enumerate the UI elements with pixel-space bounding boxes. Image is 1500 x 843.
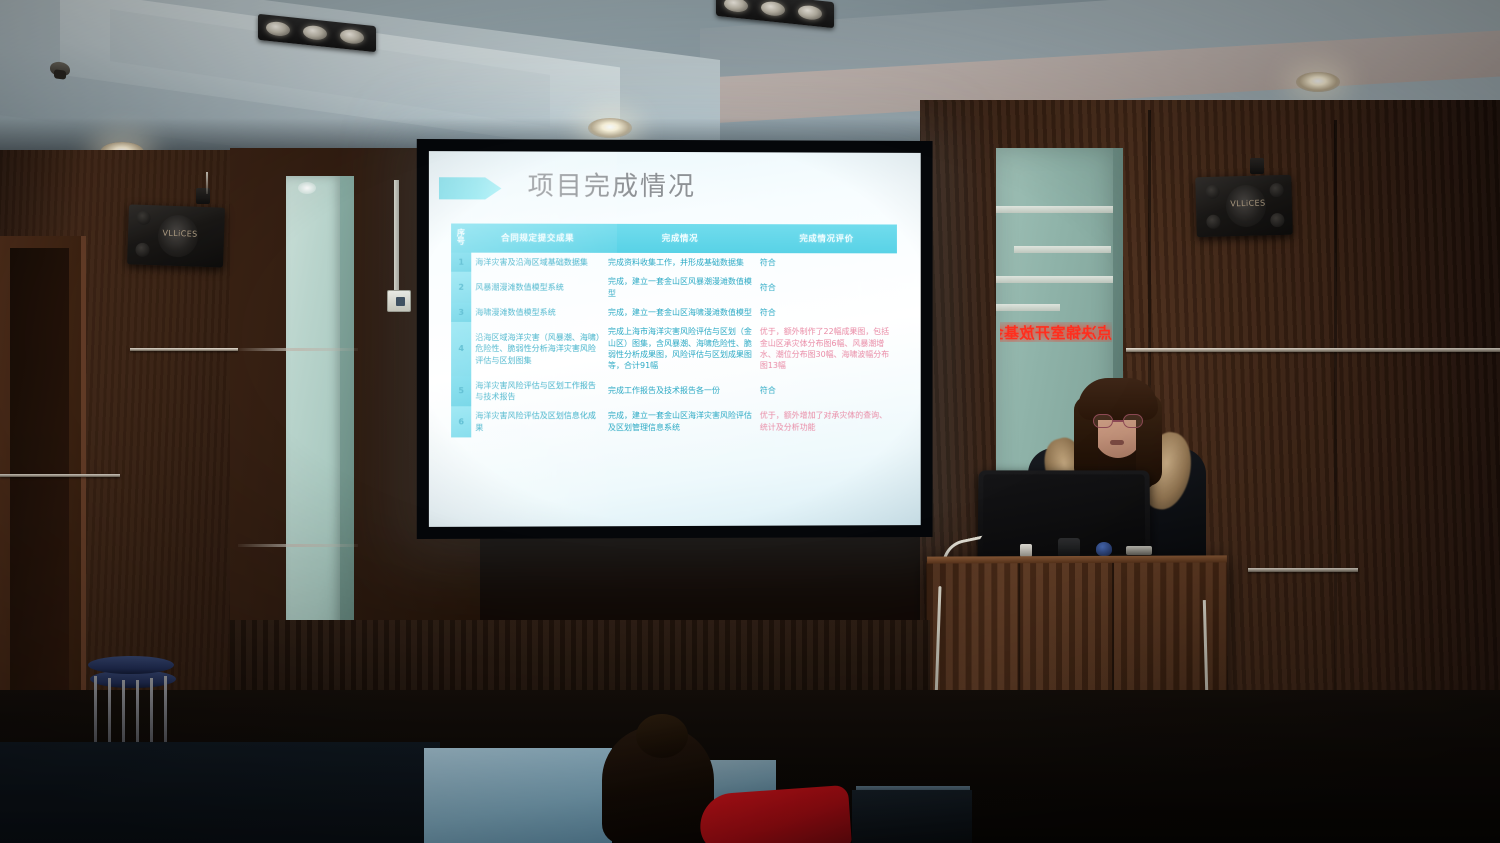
table-body: 1海洋灾害及沿海区域基础数据集完成资料收集工作，并形成基础数据集符合2风暴潮漫滩… (451, 252, 897, 437)
projection-screen-surface: 项目完成情况 序号 合同规定提交成果 完成情况 完成情况评价 1海洋灾害及沿海区… (429, 151, 921, 527)
projection-screen-frame: 项目完成情况 序号 合同规定提交成果 完成情况 完成情况评价 1海洋灾害及沿海区… (417, 139, 933, 539)
glasses-lens-right (1123, 414, 1143, 428)
speaker-tweeter (1269, 183, 1283, 197)
track-lamp (798, 4, 822, 21)
chrome-wall-trim (1248, 568, 1358, 572)
cell-row-number: 3 (451, 303, 471, 322)
column-header-status: 完成情况 (604, 224, 756, 253)
track-lamp (303, 25, 327, 42)
cell-deliverable: 海洋灾害及沿海区域基础数据集 (471, 252, 604, 272)
table-row: 2风暴潮漫滩数值模型系统完成，建立一套金山区风暴潮漫滩数值模型符合 (451, 272, 897, 303)
cell-deliverable: 海啸漫滩数值模型系统 (471, 303, 604, 322)
glasses-lens-left (1093, 414, 1113, 428)
cell-status: 完成，建立一套金山区海啸漫滩数值模型 (604, 303, 756, 322)
speaker-tweeter (135, 243, 149, 257)
glass-blind-stripe (996, 206, 1114, 213)
speaker-cable-left (206, 172, 208, 194)
stool-leg (164, 676, 167, 752)
glass-highlight (298, 182, 316, 194)
audience-member-hair-bun (636, 714, 688, 758)
slide-title: 项目完成情况 (528, 165, 696, 203)
mint-glass-column-left (286, 176, 342, 696)
cell-deliverable: 海洋灾害风险评估与区划工作报告与技术报告 (471, 376, 604, 407)
cell-evaluation: 符合 (756, 375, 897, 406)
cell-status: 完成资料收集工作，并形成基础数据集 (604, 253, 756, 273)
speaker-tweeter (1205, 185, 1219, 199)
table-row: 1海洋灾害及沿海区域基础数据集完成资料收集工作，并形成基础数据集符合 (451, 252, 897, 272)
ceiling-downlight (1296, 72, 1340, 92)
glass-blind-stripe (996, 276, 1114, 283)
cell-row-number: 1 (451, 252, 471, 271)
cell-status: 完成上海市海洋灾害风险评估与区划（金山区）图集，含风暴潮、海啸危险性、脆弱性分析… (604, 322, 756, 376)
cell-row-number: 2 (451, 272, 471, 303)
conference-room-photo: 点决锦室开放基金 VLLiCES VLLiCES 项目完成情况 (0, 0, 1500, 843)
cell-status: 完成，建立一套金山区海洋灾害风险评估及区划管理信息系统 (604, 406, 756, 437)
presentation-slide: 项目完成情况 序号 合同规定提交成果 完成情况 完成情况评价 1海洋灾害及沿海区… (429, 151, 921, 527)
cell-evaluation: 符合 (756, 272, 897, 303)
table-surface-left (424, 748, 612, 843)
cell-row-number: 4 (451, 322, 471, 376)
cell-deliverable: 沿海区域海洋灾害（风暴潮、海啸）危险性、脆弱性分析海洋灾害风险评估与区划图集 (471, 322, 604, 376)
glass-blind-stripe (996, 304, 1060, 311)
speaker-bracket-right (1250, 158, 1264, 174)
speaker-brand-label-right: VLLiCES (1226, 198, 1270, 208)
track-lamp (266, 21, 290, 38)
door-panel (10, 248, 69, 706)
door-frame (0, 236, 86, 706)
speaker-tweeter (1270, 213, 1284, 227)
speaker-tweeter (1206, 215, 1220, 229)
cell-status: 完成，建立一套金山区风暴潮漫滩数值模型 (604, 272, 756, 303)
cell-status: 完成工作报告及技术报告各一份 (604, 376, 756, 407)
speaker-tweeter (136, 211, 150, 225)
cell-row-number: 6 (451, 407, 471, 438)
column-header-no: 序号 (451, 223, 471, 252)
ceiling-downlight (588, 118, 632, 138)
desk-blue-object (1096, 542, 1112, 556)
table-header-row: 序号 合同规定提交成果 完成情况 完成情况评价 (451, 223, 897, 253)
table-row: 6海洋灾害风险评估及区划信息化成果完成，建立一套金山区海洋灾害风险评估及区划管理… (451, 406, 897, 437)
cell-evaluation: 优于，额外增加了对承灾体的查询、统计及分析功能 (756, 406, 897, 437)
cell-evaluation: 符合 (756, 253, 897, 273)
desk-remote[interactable] (1126, 546, 1152, 555)
chrome-wall-trim (0, 474, 120, 477)
table-row: 4沿海区域海洋灾害（风暴潮、海啸）危险性、脆弱性分析海洋灾害风险评估与区划图集完… (451, 322, 897, 376)
cell-evaluation: 优于，额外制作了22幅成果图，包括金山区承灾体分布图6幅、风暴潮增水、潮位分布图… (756, 322, 897, 375)
presenter-glasses (1093, 414, 1143, 428)
stool-leg (94, 676, 97, 752)
table-row: 3海啸漫滩数值模型系统完成，建立一套金山区海啸漫滩数值模型符合 (451, 303, 897, 323)
wall-panel-seam (1334, 120, 1337, 720)
foreground-table (0, 742, 440, 843)
table-row: 5海洋灾害风险评估与区划工作报告与技术报告完成工作报告及技术报告各一份符合 (451, 375, 897, 406)
track-lamp (340, 28, 364, 45)
led-banner-reflection: 点决锦室开放基金 (1000, 322, 1112, 342)
cell-deliverable: 海洋灾害风险评估及区划信息化成果 (471, 406, 604, 437)
column-header-deliverable: 合同规定提交成果 (471, 224, 604, 253)
chrome-wall-trim (1126, 348, 1500, 352)
presenter-mouth (1110, 440, 1124, 445)
wall-control-panel[interactable] (387, 290, 411, 312)
track-lamp (761, 1, 785, 18)
column-header-evaluation: 完成情况评价 (756, 224, 897, 253)
glass-blind-stripe (1014, 246, 1111, 253)
table-head: 序号 合同规定提交成果 完成情况 完成情况评价 (451, 223, 897, 253)
cell-deliverable: 风暴潮漫滩数值模型系统 (471, 272, 604, 303)
desk-cup (1020, 544, 1032, 557)
wall-speaker-right: VLLiCES (1195, 175, 1293, 237)
project-completion-table: 序号 合同规定提交成果 完成情况 完成情况评价 1海洋灾害及沿海区域基础数据集完… (451, 223, 897, 437)
wall-seam (238, 348, 358, 351)
wall-conduit (394, 180, 399, 292)
glasses-bridge (1113, 420, 1123, 422)
chevron-right-icon (439, 177, 501, 199)
track-lamp (724, 0, 748, 13)
speaker-brand-label-left: VLLiCES (158, 228, 202, 239)
wall-speaker-left: VLLiCES (127, 204, 225, 267)
slide-title-row: 项目完成情况 (455, 169, 901, 210)
audience-laptop-base (852, 790, 972, 843)
wall-seam (238, 544, 358, 547)
stool-seat (88, 656, 174, 674)
chrome-wall-trim (130, 348, 238, 351)
cell-evaluation: 符合 (756, 303, 897, 322)
cell-row-number: 5 (451, 376, 471, 407)
glass-column-edge (340, 176, 354, 696)
